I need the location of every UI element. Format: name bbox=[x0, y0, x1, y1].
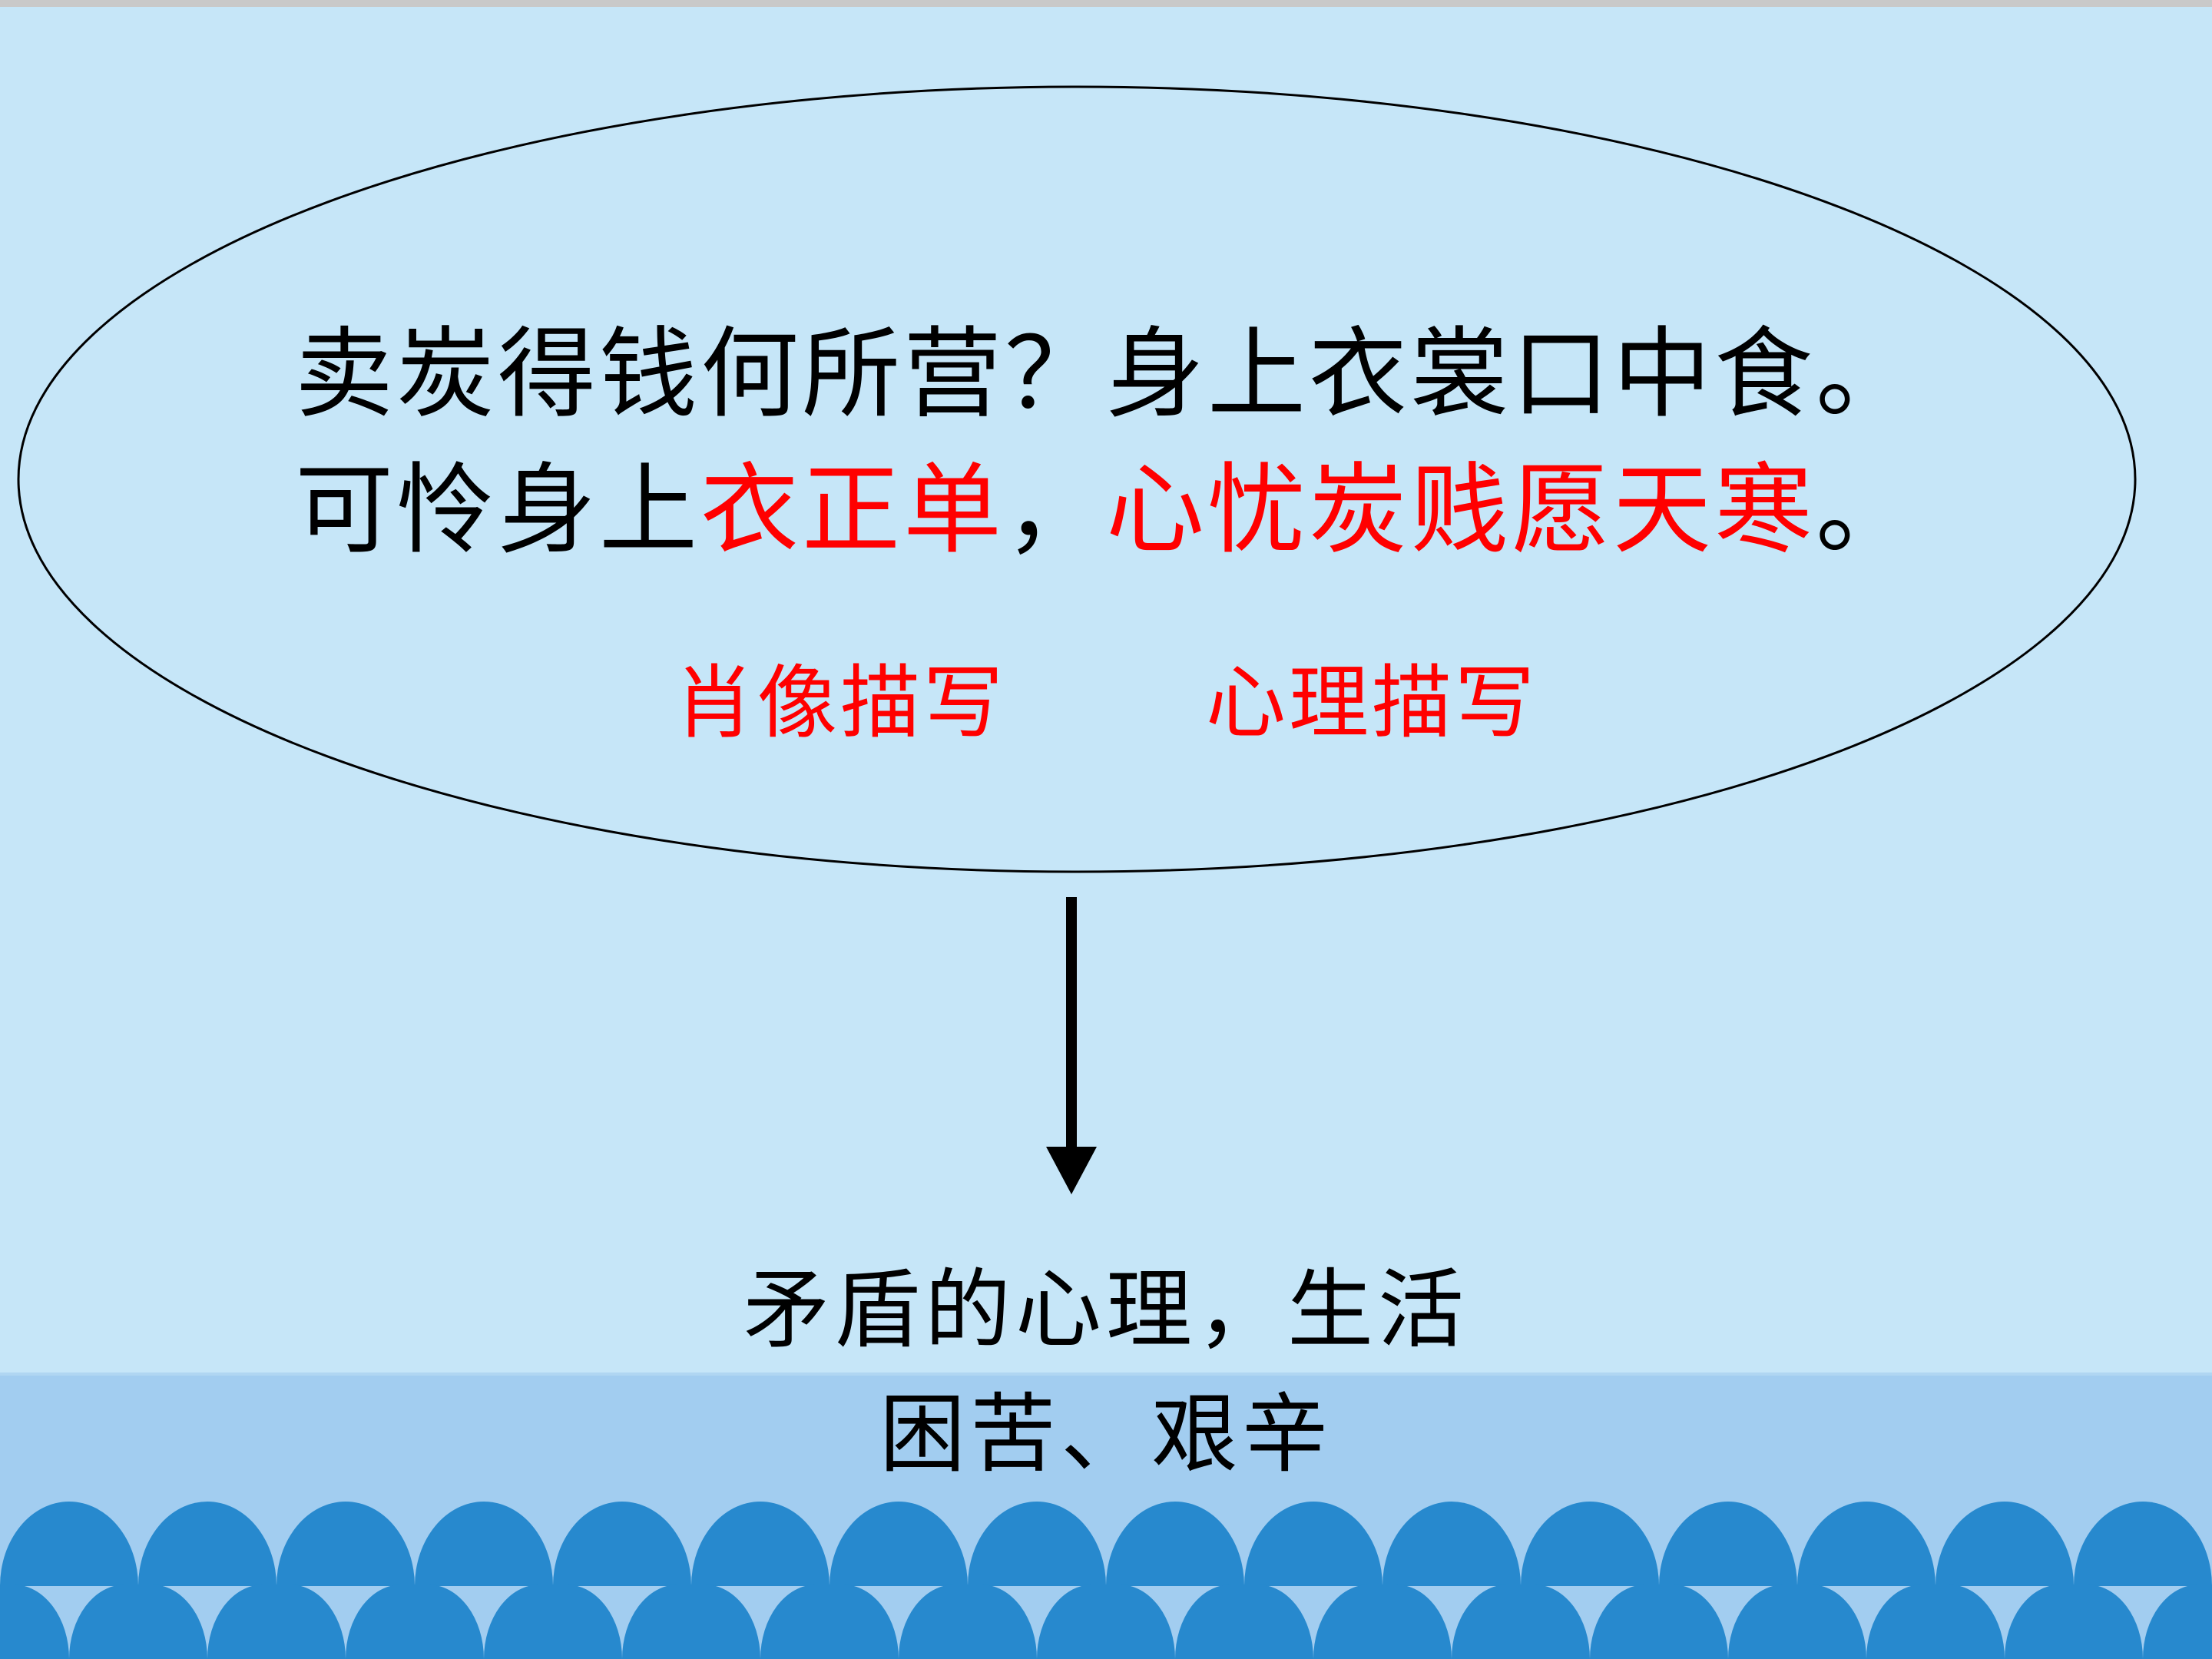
scallop-arch bbox=[622, 1584, 760, 1659]
scallop-arch bbox=[1106, 1502, 1244, 1586]
conclusion-line-1: 矛盾的心理，生活 bbox=[0, 1248, 2212, 1373]
conclusion-line-2: 困苦、艰辛 bbox=[0, 1373, 2212, 1497]
scallop-arch bbox=[207, 1584, 346, 1659]
poem-line-1: 卖炭得钱何所营？身上衣裳口中食。 bbox=[0, 307, 2212, 443]
scallop-arch bbox=[829, 1502, 968, 1586]
slide-canvas: 卖炭得钱何所营？身上衣裳口中食。 可怜身上衣正单，心忧炭贱愿天寒。 肖像描写心理… bbox=[0, 0, 2212, 1659]
scallop-arch bbox=[968, 1502, 1106, 1586]
poem-line-2-seg-2-highlight: 衣正单 bbox=[700, 453, 1005, 568]
poem-line-2: 可怜身上衣正单，心忧炭贱愿天寒。 bbox=[0, 443, 2212, 579]
scallop-arch bbox=[2074, 1502, 2212, 1586]
scallop-arch bbox=[1521, 1502, 1659, 1586]
scallop-arch bbox=[1037, 1584, 1175, 1659]
scallop-arch bbox=[1452, 1584, 1590, 1659]
poem-line-2-seg-5: 。 bbox=[1816, 453, 1917, 568]
scallop-arch bbox=[760, 1584, 899, 1659]
scallop-arch bbox=[1313, 1584, 1452, 1659]
scallop-arch bbox=[2143, 1584, 2212, 1659]
scallop-arch bbox=[346, 1584, 484, 1659]
scallop-arch bbox=[553, 1502, 691, 1586]
scallop-arch bbox=[1659, 1502, 1797, 1586]
scallop-arch bbox=[899, 1584, 1037, 1659]
scallop-arch bbox=[1590, 1584, 1728, 1659]
scallop-arch bbox=[0, 1502, 138, 1586]
annotation-tag-portrait: 肖像描写 bbox=[674, 637, 1006, 753]
poem-text-block: 卖炭得钱何所营？身上衣裳口中食。 可怜身上衣正单，心忧炭贱愿天寒。 bbox=[0, 307, 2212, 578]
scallop-arch bbox=[1936, 1502, 2074, 1586]
scallop-arch bbox=[138, 1502, 276, 1586]
scallop-row-lower bbox=[0, 1584, 2212, 1659]
scallop-arch bbox=[1728, 1584, 1866, 1659]
scallop-arch bbox=[1797, 1502, 1936, 1586]
scallop-arch bbox=[415, 1502, 553, 1586]
annotation-tag-row: 肖像描写心理描写 bbox=[0, 637, 2212, 753]
scallop-arch bbox=[1175, 1584, 1313, 1659]
scallop-arch bbox=[691, 1502, 829, 1586]
conclusion-text-block: 矛盾的心理，生活 困苦、艰辛 bbox=[0, 1248, 2212, 1498]
poem-line-2-seg-1: 可怜身上 bbox=[295, 453, 700, 568]
scallop-arch bbox=[0, 1584, 69, 1659]
poem-line-1-text: 卖炭得钱何所营？身上衣裳口中食。 bbox=[295, 317, 1917, 432]
poem-line-2-seg-3: ， bbox=[1005, 453, 1106, 568]
scallop-arch bbox=[1382, 1502, 1521, 1586]
scallop-arch bbox=[484, 1584, 622, 1659]
poem-line-2-seg-4-highlight: 心忧炭贱愿天寒 bbox=[1106, 453, 1816, 568]
top-gray-strip bbox=[0, 0, 2212, 7]
scallop-arch bbox=[2005, 1584, 2143, 1659]
scallop-arch bbox=[1866, 1584, 2005, 1659]
scallop-arch bbox=[69, 1584, 207, 1659]
scallop-row-upper bbox=[0, 1502, 2212, 1586]
scallop-arch bbox=[1244, 1502, 1382, 1586]
scallop-arch bbox=[276, 1502, 415, 1586]
annotation-tag-psychology: 心理描写 bbox=[1206, 637, 1538, 753]
